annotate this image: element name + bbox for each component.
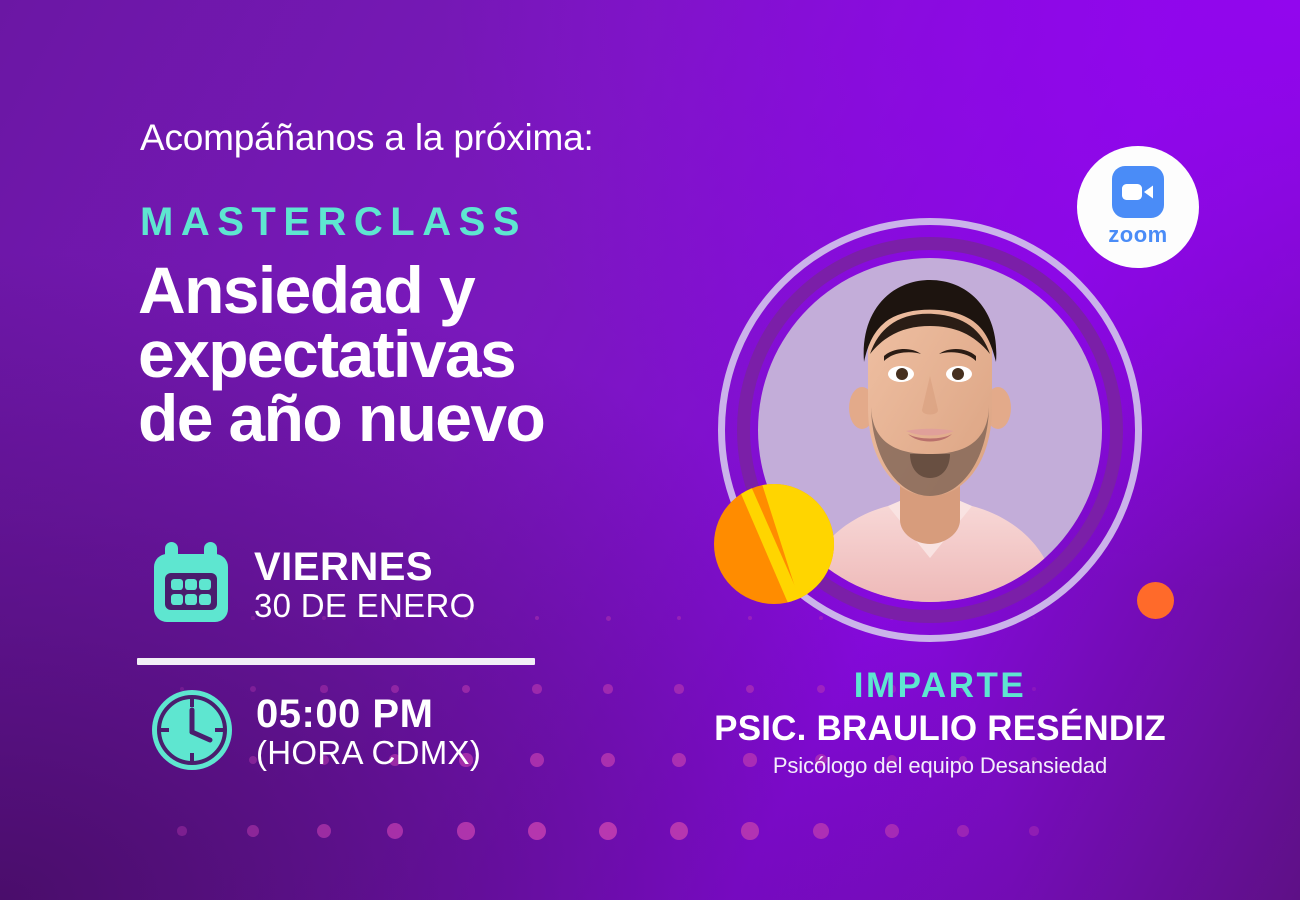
ball-decoration xyxy=(714,484,834,604)
pattern-dot xyxy=(530,753,544,767)
pattern-dot xyxy=(601,753,615,767)
presenter-name: PSIC. BRAULIO RESÉNDIZ xyxy=(690,709,1190,749)
pattern-dot xyxy=(670,822,688,840)
calendar-icon xyxy=(150,540,232,631)
section-divider xyxy=(137,658,535,665)
presenter-label: IMPARTE xyxy=(690,666,1190,706)
pattern-dot xyxy=(885,824,899,838)
event-date-row: VIERNES 30 DE ENERO xyxy=(150,540,476,631)
headline-line-1: Ansiedad y xyxy=(138,258,544,322)
pattern-dot xyxy=(603,684,613,694)
poster-headline: Ansiedad y expectativas de año nuevo xyxy=(138,258,544,450)
poster-eyebrow: MASTERCLASS xyxy=(140,200,527,245)
clock-icon xyxy=(150,688,234,777)
event-time-value: 05:00 PM xyxy=(256,694,481,734)
pattern-dot xyxy=(957,825,969,837)
pattern-dot xyxy=(532,684,541,693)
promo-poster: zoom Acompáñanos a la próxima: MASTERCLA… xyxy=(0,0,1300,900)
event-date-text: VIERNES 30 DE ENERO xyxy=(254,547,476,625)
presenter-role: Psicólogo del equipo Desansiedad xyxy=(690,753,1190,779)
pattern-dot xyxy=(177,826,186,835)
event-time-row: 05:00 PM (HORA CDMX) xyxy=(150,688,481,777)
event-day-name: VIERNES xyxy=(254,547,476,587)
poster-kicker: Acompáñanos a la próxima: xyxy=(140,117,594,159)
headline-line-3: de año nuevo xyxy=(138,386,544,450)
pattern-dot xyxy=(599,822,618,841)
pattern-dot xyxy=(677,616,682,621)
pattern-dot xyxy=(317,824,331,838)
event-time-text: 05:00 PM (HORA CDMX) xyxy=(256,694,481,772)
orange-dot-decoration xyxy=(1137,582,1174,619)
pattern-dot xyxy=(387,823,403,839)
presenter-block: IMPARTE PSIC. BRAULIO RESÉNDIZ Psicólogo… xyxy=(690,666,1190,779)
pattern-dot xyxy=(528,822,546,840)
pattern-dot xyxy=(813,823,829,839)
zoom-wordmark: zoom xyxy=(1108,222,1167,248)
pattern-dot xyxy=(672,753,686,767)
event-timezone: (HORA CDMX) xyxy=(256,734,481,772)
pattern-dot xyxy=(535,616,540,621)
pattern-dot xyxy=(606,616,611,621)
pattern-dot xyxy=(1029,826,1038,835)
event-day-detail: 30 DE ENERO xyxy=(254,587,476,625)
zoom-platform-badge[interactable]: zoom xyxy=(1077,146,1199,268)
headline-line-2: expectativas xyxy=(138,322,544,386)
pattern-dot xyxy=(247,825,259,837)
video-camera-icon xyxy=(1112,166,1164,218)
pattern-dot xyxy=(674,684,683,693)
pattern-dot xyxy=(741,822,758,839)
pattern-dot xyxy=(457,822,474,839)
